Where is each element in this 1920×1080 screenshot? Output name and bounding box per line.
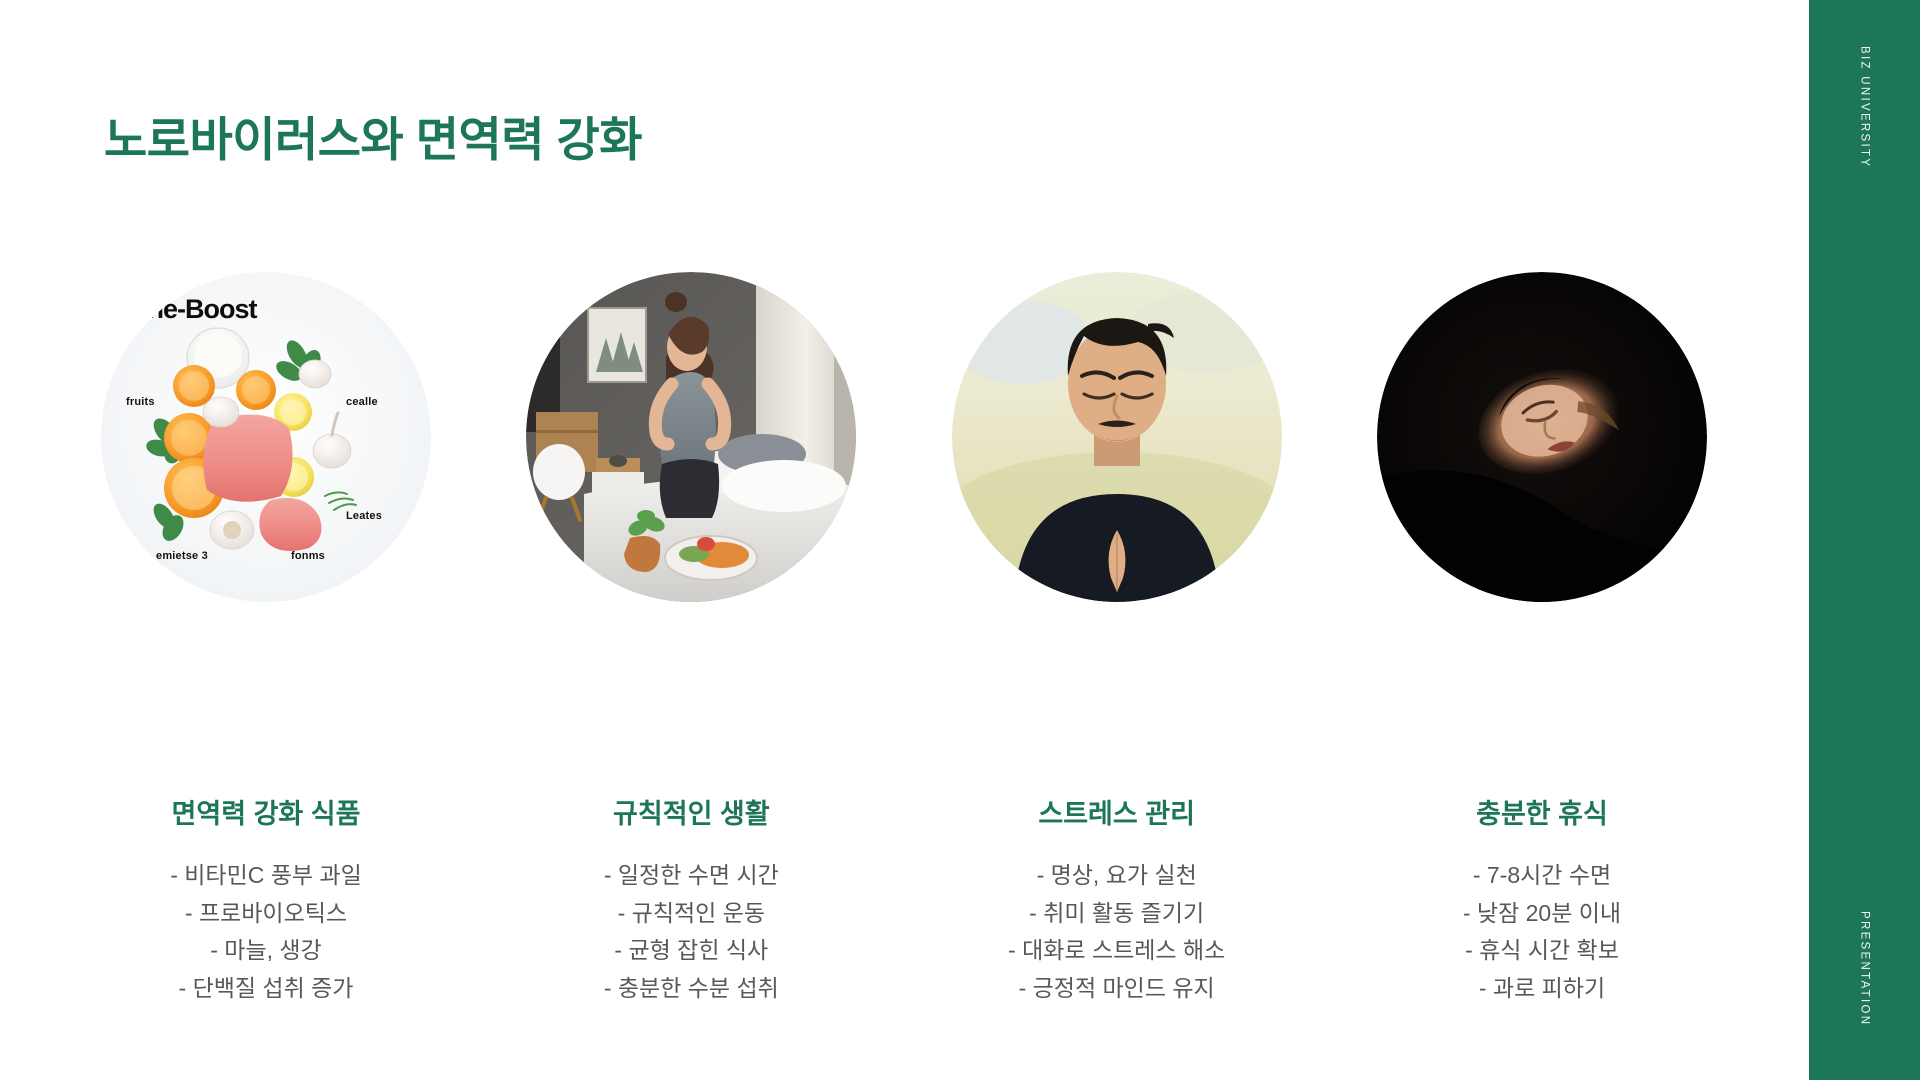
food-label-fruits: fruits <box>126 396 155 408</box>
list-item: - 취미 활동 즐기기 <box>1008 895 1225 932</box>
list-item: - 긍정적 마인드 유지 <box>1008 970 1225 1007</box>
woman-exercising-bedroom-photo <box>526 272 856 602</box>
page-title: 노로바이러스와 면역력 강화 <box>104 114 642 166</box>
list-item: - 규칙적인 운동 <box>604 895 779 932</box>
list-item: - 대화로 스트레스 해소 <box>1008 932 1225 969</box>
food-label-leates: Leates <box>346 510 382 522</box>
column-immune-foods: mune-Boost fruits cealle Leates emietse … <box>96 272 436 1007</box>
list-item: - 비타민C 풍부 과일 <box>170 857 362 894</box>
list-item: - 과로 피하기 <box>1463 970 1621 1007</box>
rail-label-presentation: PRESENTATION <box>1859 911 1871 1026</box>
list-item: - 낮잠 20분 이내 <box>1463 895 1621 932</box>
list-item: - 일정한 수면 시간 <box>604 857 779 894</box>
list-item: - 명상, 요가 실천 <box>1008 857 1225 894</box>
food-label-emietse: emietse 3 <box>156 550 208 562</box>
list-item: - 프로바이오틱스 <box>170 895 362 932</box>
food-label-fonms: fonms <box>291 550 325 562</box>
immune-boosting-foods-photo: mune-Boost fruits cealle Leates emietse … <box>101 272 431 602</box>
man-meditating-outdoors-photo <box>952 272 1282 602</box>
list-item: - 충분한 수분 섭취 <box>604 970 779 1007</box>
column-list-sufficient-rest: - 7-8시간 수면 - 낮잠 20분 이내 - 휴식 시간 확보 - 과로 피… <box>1463 857 1621 1007</box>
column-heading-regular-lifestyle: 규칙적인 생활 <box>613 798 770 830</box>
food-label-cealle: cealle <box>346 396 378 408</box>
list-item: - 단백질 섭취 증가 <box>170 970 362 1007</box>
column-regular-lifestyle: 규칙적인 생활 - 일정한 수면 시간 - 규칙적인 운동 - 균형 잡힌 식사… <box>521 272 861 1007</box>
list-item: - 휴식 시간 확보 <box>1463 932 1621 969</box>
woman-sleeping-dark-photo <box>1377 272 1707 602</box>
column-heading-immune-foods: 면역력 강화 식품 <box>172 798 361 830</box>
column-heading-stress-management: 스트레스 관리 <box>1038 798 1195 830</box>
column-sufficient-rest: 충분한 휴식 - 7-8시간 수면 - 낮잠 20분 이내 - 휴식 시간 확보… <box>1372 272 1712 1007</box>
food-image-title-label: mune-Boost <box>109 294 257 325</box>
column-stress-management: 스트레스 관리 - 명상, 요가 실천 - 취미 활동 즐기기 - 대화로 스트… <box>947 272 1287 1007</box>
list-item: - 7-8시간 수면 <box>1463 857 1621 894</box>
column-heading-sufficient-rest: 충분한 휴식 <box>1476 798 1608 830</box>
list-item: - 마늘, 생강 <box>170 932 362 969</box>
column-list-regular-lifestyle: - 일정한 수면 시간 - 규칙적인 운동 - 균형 잡힌 식사 - 충분한 수… <box>604 857 779 1007</box>
rail-label-university: BIZ UNIVERSITY <box>1859 46 1871 168</box>
column-list-stress-management: - 명상, 요가 실천 - 취미 활동 즐기기 - 대화로 스트레스 해소 - … <box>1008 857 1225 1007</box>
brand-rail: BIZ UNIVERSITY PRESENTATION <box>1809 0 1920 1080</box>
column-list-immune-foods: - 비타민C 풍부 과일 - 프로바이오틱스 - 마늘, 생강 - 단백질 섭취… <box>170 857 362 1007</box>
feature-columns: mune-Boost fruits cealle Leates emietse … <box>96 272 1712 1002</box>
list-item: - 균형 잡힌 식사 <box>604 932 779 969</box>
